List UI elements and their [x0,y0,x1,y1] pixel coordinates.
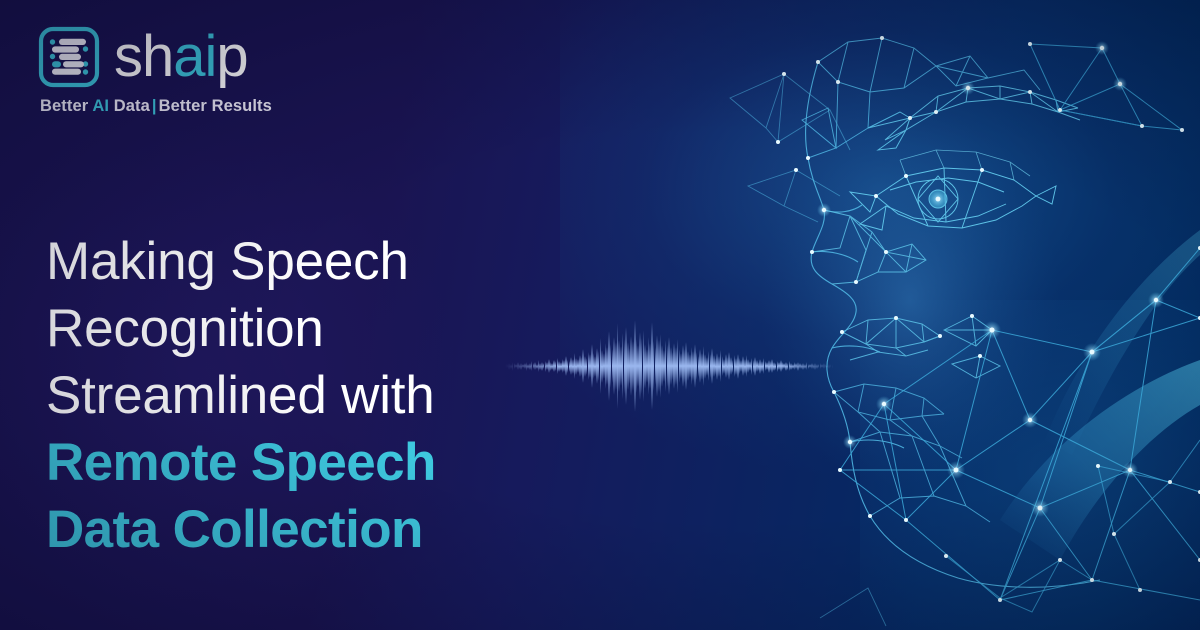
vignette-overlay [0,0,1200,630]
hero-banner: shaip Better AI Data|Better Results Maki… [0,0,1200,630]
